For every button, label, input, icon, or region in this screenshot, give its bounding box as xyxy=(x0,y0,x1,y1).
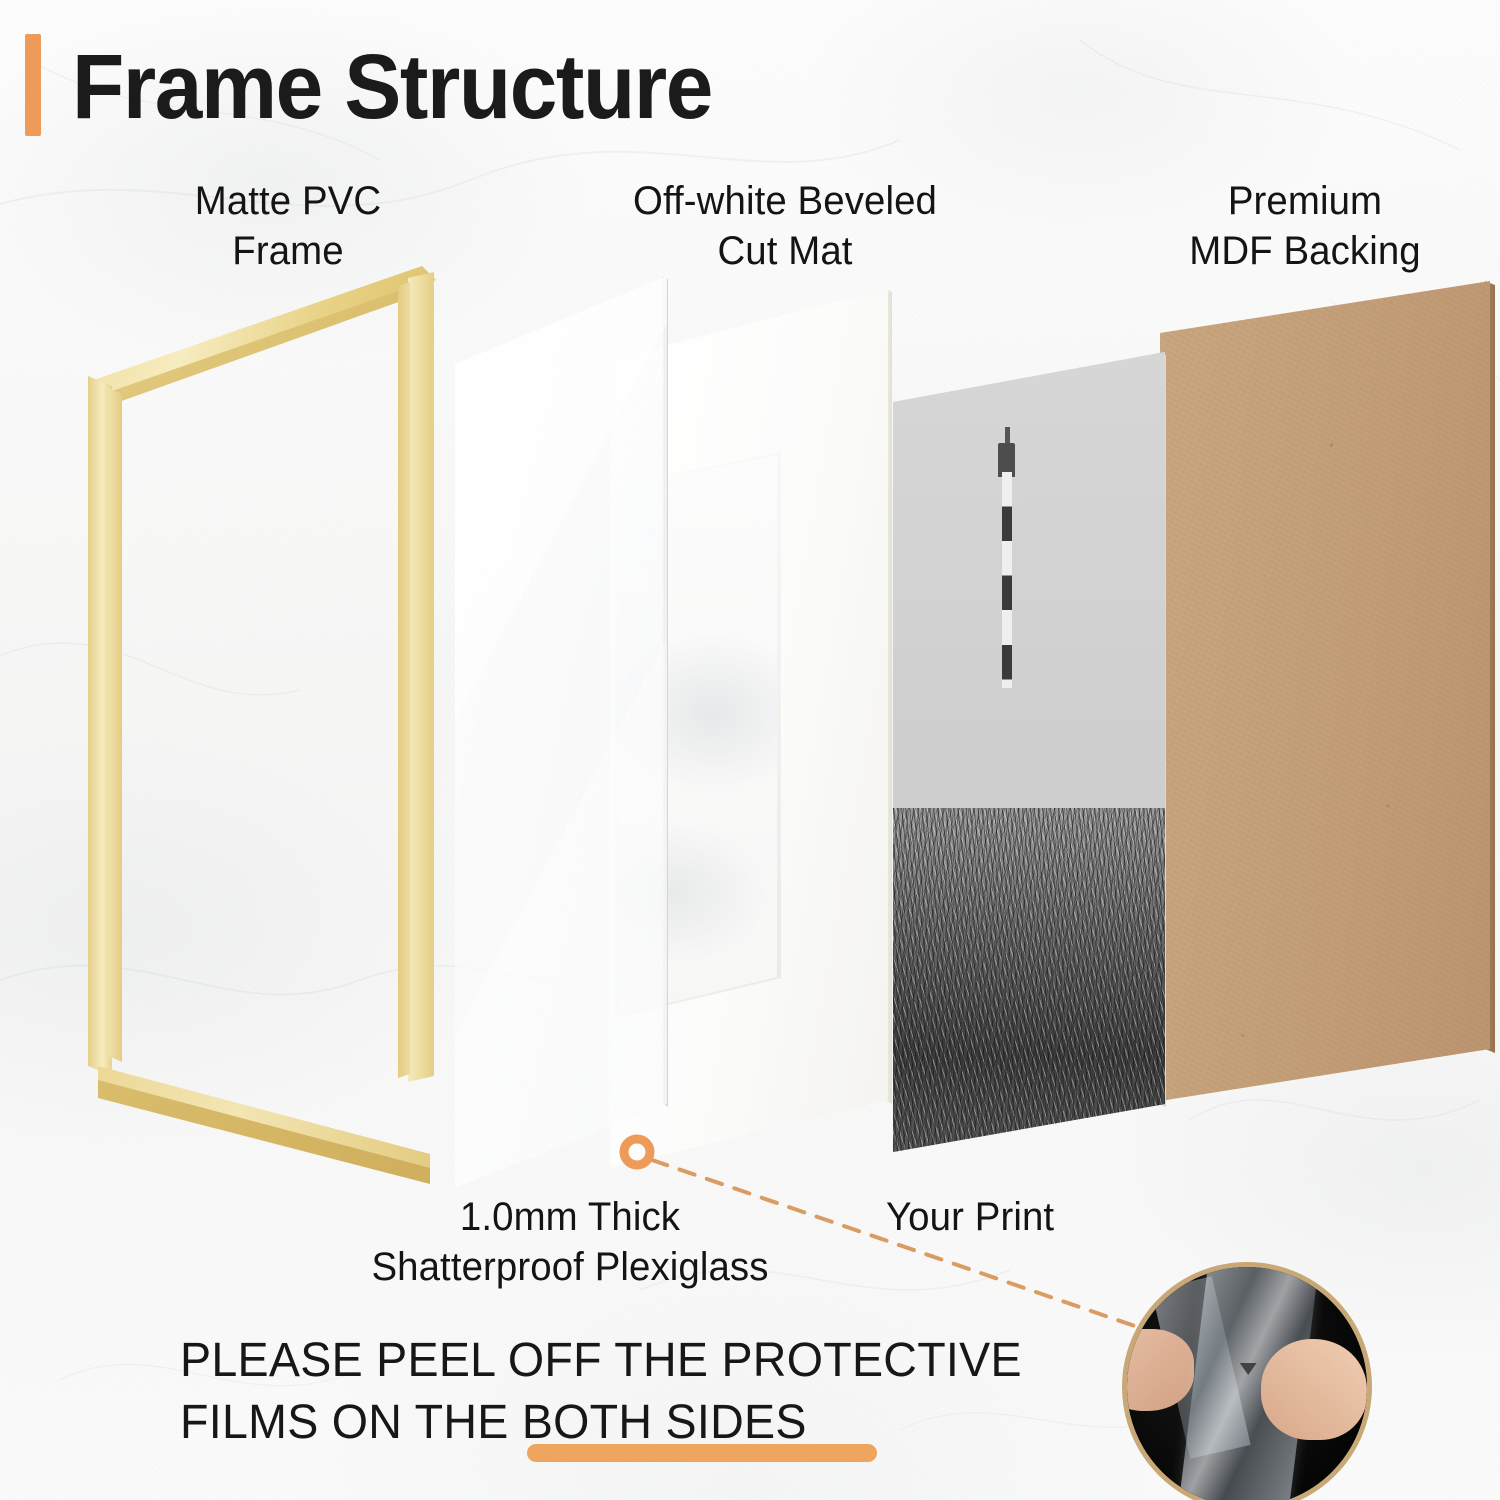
warning-line-1: PLEASE PEEL OFF THE PROTECTIVE xyxy=(180,1334,1022,1387)
page-title: Frame Structure xyxy=(72,33,712,141)
frame-left-rail-inner xyxy=(108,388,126,1064)
lighthouse-tower-icon xyxy=(1002,472,1012,688)
layer-mdf-backing xyxy=(1160,281,1490,1101)
print-sky xyxy=(893,352,1165,848)
peel-film-inset-photo xyxy=(1122,1262,1372,1500)
callout-label-mat: Off-white Beveled Cut Mat xyxy=(569,176,1001,276)
callout-label-plexiglass: 1.0mm Thick Shatterproof Plexiglass xyxy=(263,1192,877,1292)
layer-your-print xyxy=(893,352,1165,1152)
callout-label-backing: Premium MDF Backing xyxy=(1118,176,1492,276)
warning-line-2-highlight: BOTH SIDES xyxy=(522,1396,807,1449)
callout-label-frame: Matte PVC Frame xyxy=(125,176,451,276)
plexiglass-sheen xyxy=(455,276,667,1188)
layer-pvc-frame xyxy=(88,266,458,1196)
inset-right-hand xyxy=(1261,1339,1367,1440)
callout-label-print: Your Print xyxy=(886,1192,1174,1242)
title-accent-bar xyxy=(25,34,41,136)
warning-text: PLEASE PEEL OFF THE PROTECTIVE FILMS ON … xyxy=(180,1330,1034,1454)
frame-right-rail xyxy=(408,272,450,1082)
infographic-canvas: Frame Structure Matte PVC Frame Off-whit… xyxy=(0,0,1500,1500)
warning-line-2-plain: FILMS ON THE xyxy=(180,1396,522,1449)
print-dune-grass xyxy=(893,808,1165,1152)
